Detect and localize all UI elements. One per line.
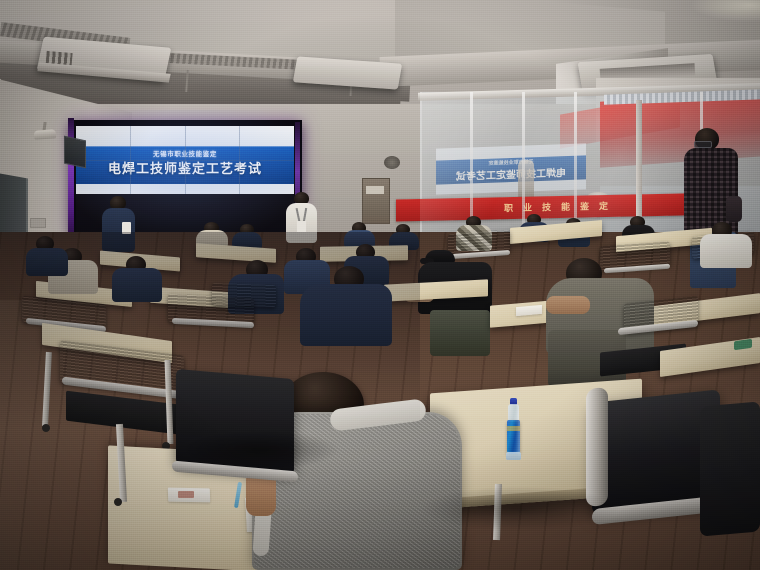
invigilator-plaid-body xyxy=(684,148,738,236)
wall-socket xyxy=(30,218,46,228)
card-photo xyxy=(178,491,194,498)
exam-hall-photograph: 无锡市职业技能鉴定 电焊工技师鉴定工艺考试 职业技能鉴定 无锡市职业技能鉴定 电… xyxy=(0,0,760,570)
desk-caster xyxy=(42,424,50,432)
reflected-person xyxy=(518,160,534,201)
shadow xyxy=(180,430,340,470)
invigilator-arm xyxy=(726,196,742,222)
proctor-navy-id-badge xyxy=(122,222,131,234)
wall-speaker xyxy=(64,136,86,169)
bottle-base xyxy=(506,452,521,460)
examinee-body xyxy=(26,248,68,276)
bottle-label-stripe xyxy=(507,426,520,431)
chair-frame-chrome xyxy=(586,387,608,507)
chair[interactable] xyxy=(212,283,276,307)
glasses-icon xyxy=(694,141,712,148)
panel-seam-h xyxy=(76,160,294,161)
examinee-navy-body xyxy=(300,284,392,346)
examinee-white-tee-body xyxy=(700,234,752,268)
examinee-body xyxy=(112,268,162,302)
led-video-wall: 无锡市职业技能鉴定 电焊工技师鉴定工艺考试 xyxy=(76,126,294,194)
examinee-olive-arm xyxy=(546,296,590,314)
shadow xyxy=(420,486,620,532)
chair[interactable] xyxy=(700,401,760,536)
door-back[interactable] xyxy=(362,178,390,224)
desk-caster xyxy=(114,498,122,506)
wall-lamp xyxy=(34,129,57,140)
examinee-blackcap-trousers xyxy=(430,310,490,356)
glass-partition-reflection: 无锡市职业技能鉴定 电焊工技师鉴定工艺考试 xyxy=(436,143,586,194)
wall-fan-icon xyxy=(384,156,400,169)
door-back-window xyxy=(366,186,384,194)
proctor-white-id-badge xyxy=(297,221,306,232)
